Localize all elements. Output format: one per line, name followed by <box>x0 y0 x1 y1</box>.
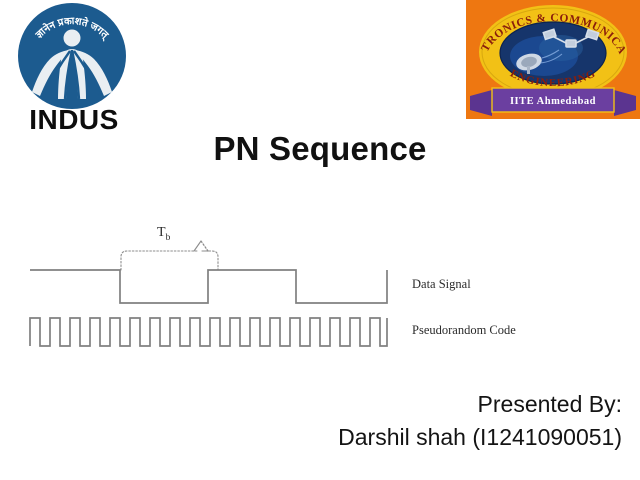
pn-sequence-figure: Tb Data Signal Pseudorandom Code <box>18 215 578 355</box>
pseudorandom-code-trace <box>30 318 387 346</box>
waveform-plot <box>18 215 418 355</box>
presented-by-label: Presented By: <box>0 388 622 421</box>
svg-text:IITE Ahmedabad: IITE Ahmedabad <box>510 96 596 107</box>
data-signal-trace <box>30 270 387 303</box>
iite-badge: ELECTRONICS & COMMUNICATION ENGINEERING … <box>466 0 640 119</box>
tb-bracket <box>121 241 218 270</box>
presenter-credit: Presented By: Darshil shah (I1241090051) <box>0 388 622 453</box>
indus-emblem-icon: ज्ञानेन प्रकाशते जगत् <box>16 2 128 110</box>
presenter-name: Darshil shah (I1241090051) <box>0 421 622 454</box>
indus-logo: ज्ञानेन प्रकाशते जगत् INDUS <box>8 2 140 142</box>
page-title: PN Sequence <box>0 130 640 168</box>
pseudorandom-code-label: Pseudorandom Code <box>412 323 516 338</box>
data-signal-label: Data Signal <box>412 277 471 292</box>
